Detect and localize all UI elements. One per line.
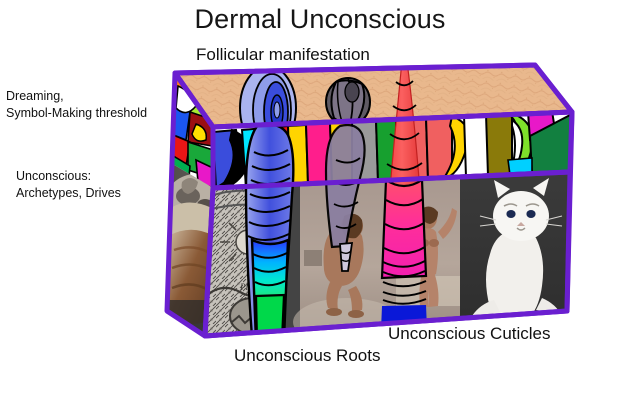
label-unconscious-cuticles: Unconscious Cuticles <box>388 323 551 345</box>
label-unconscious-archetypes: Unconscious: Archetypes, Drives <box>16 168 121 201</box>
blue-follicle-column <box>246 124 293 344</box>
page-title: Dermal Unconscious <box>0 2 640 38</box>
label-unconscious-roots: Unconscious Roots <box>234 345 380 367</box>
label-follicular-manifestation: Follicular manifestation <box>196 44 370 66</box>
label-dreaming-threshold: Dreaming, Symbol-Making threshold <box>6 88 147 121</box>
diagram-canvas: Plur <box>0 0 640 400</box>
